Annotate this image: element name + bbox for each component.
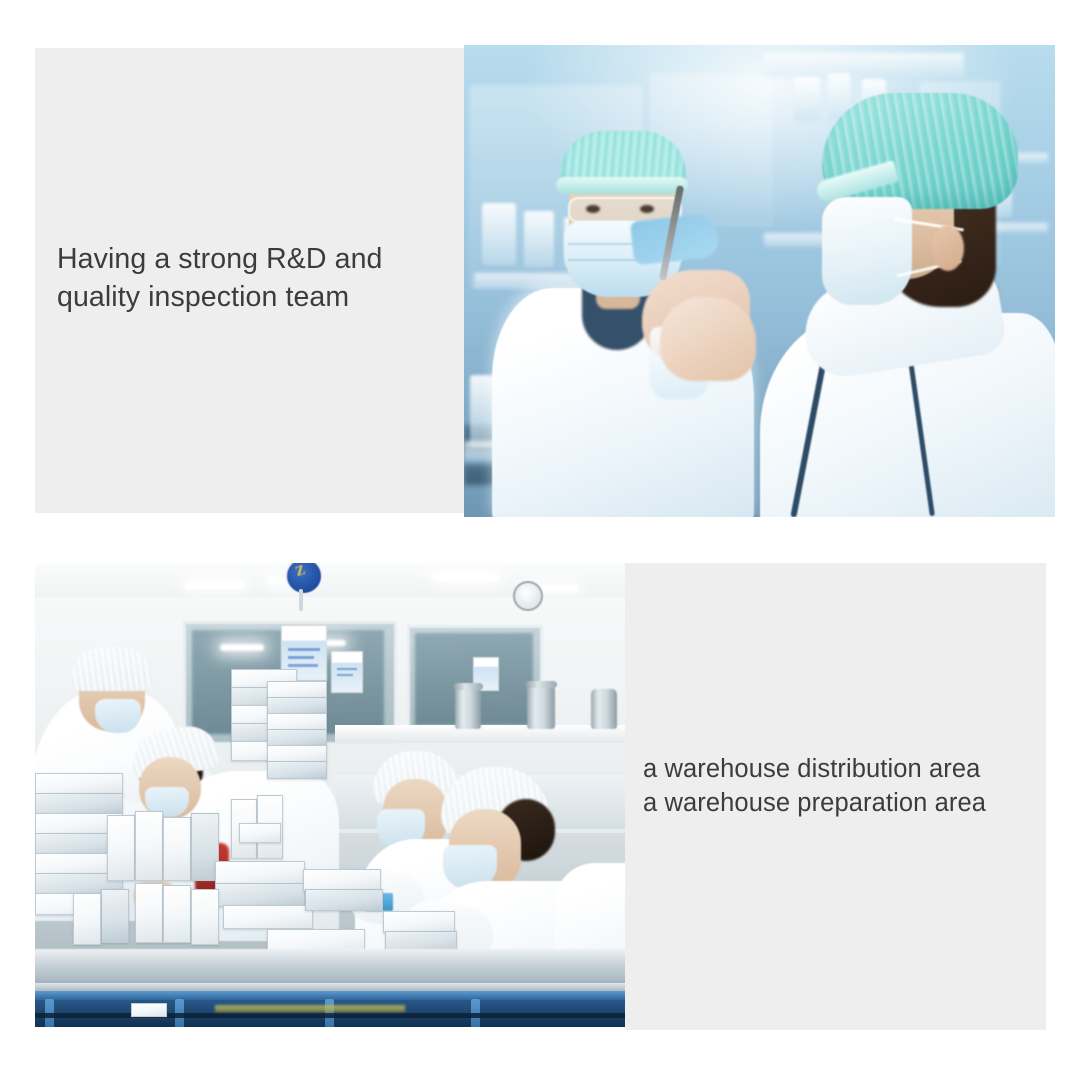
- warehouse-packing-photo: Z: [35, 563, 625, 1027]
- worker-mask: [95, 699, 141, 733]
- upright-carton: [163, 885, 191, 943]
- packing-box: [223, 905, 313, 929]
- lab-jar: [794, 77, 820, 121]
- canister-lid: [525, 681, 557, 688]
- sign-post: [299, 589, 303, 611]
- packing-box: [303, 869, 381, 891]
- packing-box: [383, 911, 455, 933]
- ceiling-light: [185, 581, 245, 589]
- lab-jar: [524, 211, 554, 267]
- upright-carton: [73, 893, 101, 945]
- metal-canister: [527, 685, 555, 729]
- packing-box: [267, 761, 327, 779]
- packing-box: [215, 861, 305, 885]
- under-table-bar: [35, 1013, 625, 1018]
- ceiling-light: [433, 573, 499, 581]
- upright-carton: [107, 815, 135, 881]
- upright-carton: [135, 811, 163, 881]
- poster-line: [288, 648, 320, 651]
- gloved-hand-lower: [660, 297, 756, 381]
- poster-line: [288, 656, 314, 659]
- rnd-lab-photo: [464, 45, 1055, 517]
- wall-clock: [513, 581, 543, 611]
- technician-front-hairnet-brim: [556, 177, 688, 194]
- technician-profile-mask: [822, 197, 912, 305]
- technician-profile-ear: [932, 225, 964, 271]
- packing-box: [35, 793, 123, 815]
- small-box-under-table: [131, 1003, 167, 1017]
- canister-lid: [453, 683, 483, 690]
- floor-marking: [215, 1005, 405, 1012]
- packing-box: [35, 773, 123, 795]
- poster-line: [288, 664, 318, 667]
- packing-box: [305, 889, 383, 911]
- upright-carton: [163, 817, 191, 881]
- upright-carton: [101, 889, 129, 943]
- poster-line: [337, 668, 357, 670]
- metal-canister: [455, 687, 481, 729]
- metal-canister: [591, 689, 617, 729]
- technician-front-eye: [640, 205, 654, 213]
- window-interior-light: [220, 644, 264, 651]
- wall-poster: [331, 651, 363, 693]
- poster-line: [337, 674, 353, 676]
- lab-shelf: [764, 53, 964, 77]
- lab-jar: [482, 203, 516, 265]
- warehouse-caption-text: a warehouse distribution area a warehous…: [643, 752, 1053, 820]
- rnd-caption-text: Having a strong R&D and quality inspecti…: [57, 240, 457, 316]
- packing-box: [215, 883, 305, 907]
- worker-hairnet: [71, 647, 153, 691]
- page-canvas: Having a strong R&D and quality inspecti…: [0, 0, 1080, 1080]
- upright-carton: [191, 889, 219, 945]
- packing-box: [239, 823, 281, 843]
- technician-front-eye: [586, 205, 600, 213]
- sign-logo-glyph: Z: [294, 563, 308, 581]
- upright-carton: [135, 883, 163, 943]
